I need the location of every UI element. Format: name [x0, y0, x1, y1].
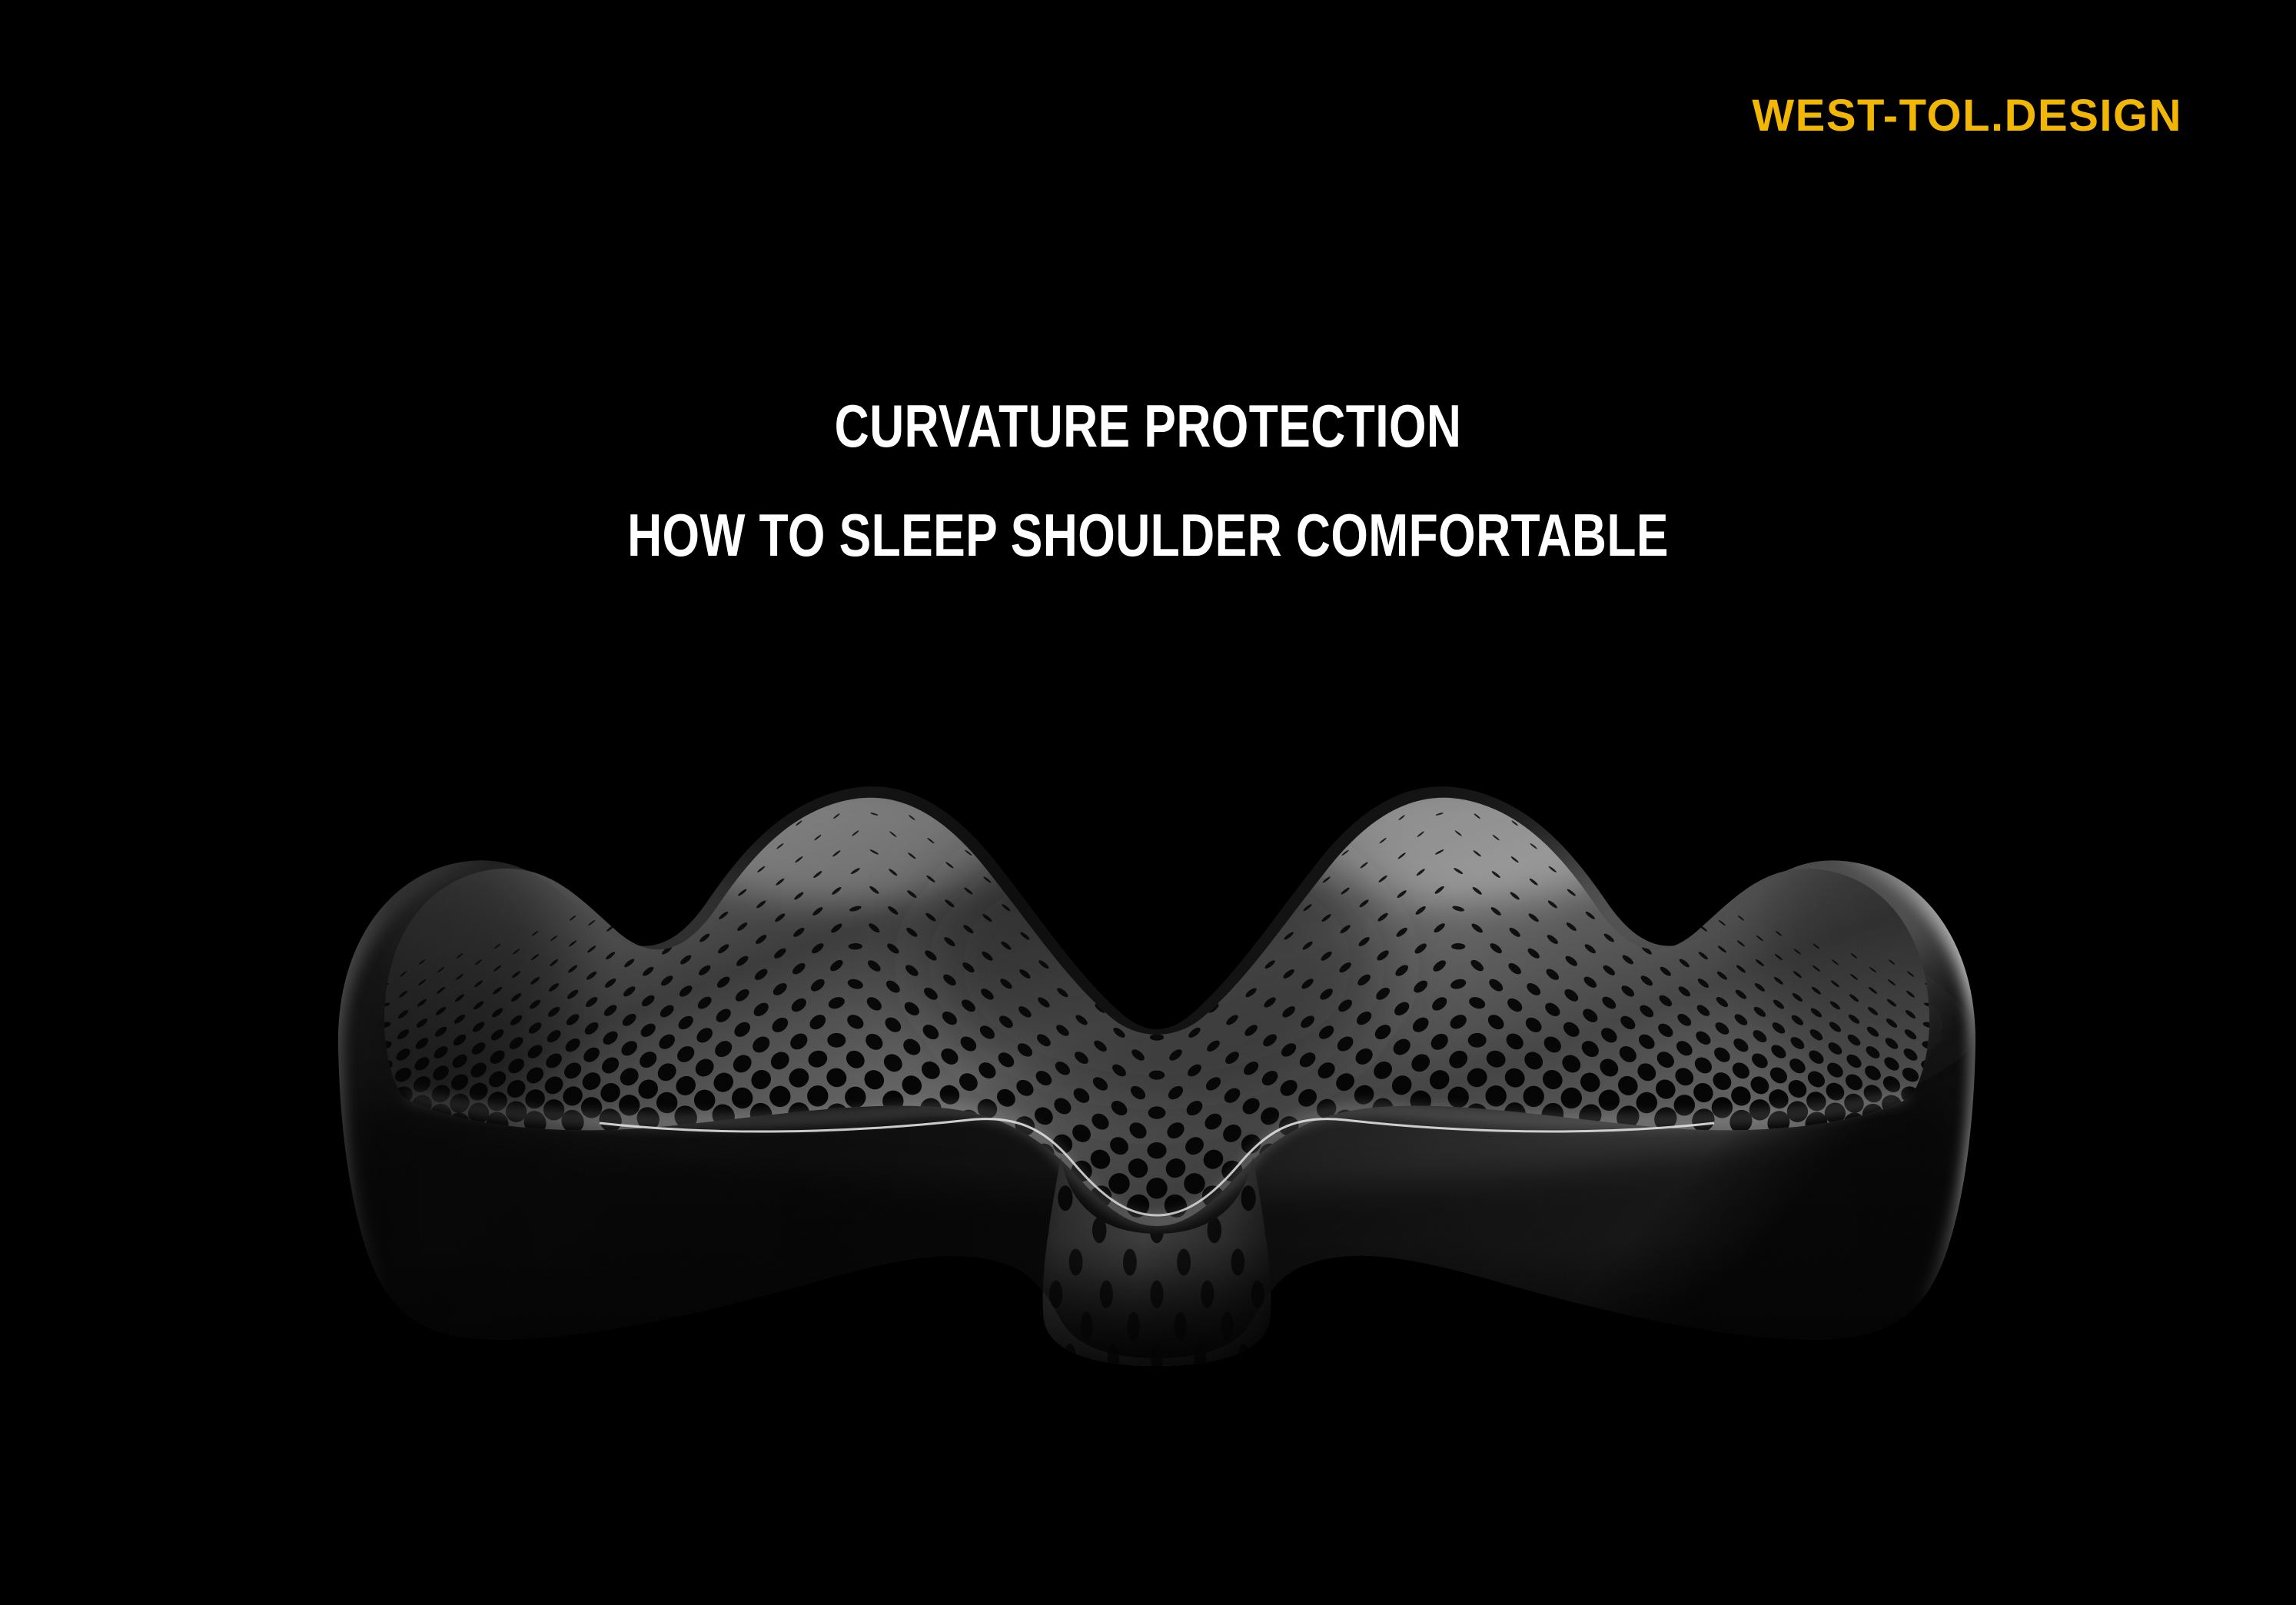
product-image [292, 696, 2045, 1372]
headline-block: CURVATURE PROTECTION HOW TO SLEEP SHOULD… [0, 394, 2296, 567]
headline-primary: CURVATURE PROTECTION [230, 394, 2067, 458]
headline-secondary: HOW TO SLEEP SHOULDER COMFORTABLE [230, 503, 2067, 567]
poster-canvas: WEST-TOL.DESIGN CURVATURE PROTECTION HOW… [0, 0, 2296, 1605]
pillow-render [292, 696, 2045, 1372]
brand-logo: WEST-TOL.DESIGN [1752, 94, 2182, 138]
pillow-vignette [292, 696, 2045, 1372]
